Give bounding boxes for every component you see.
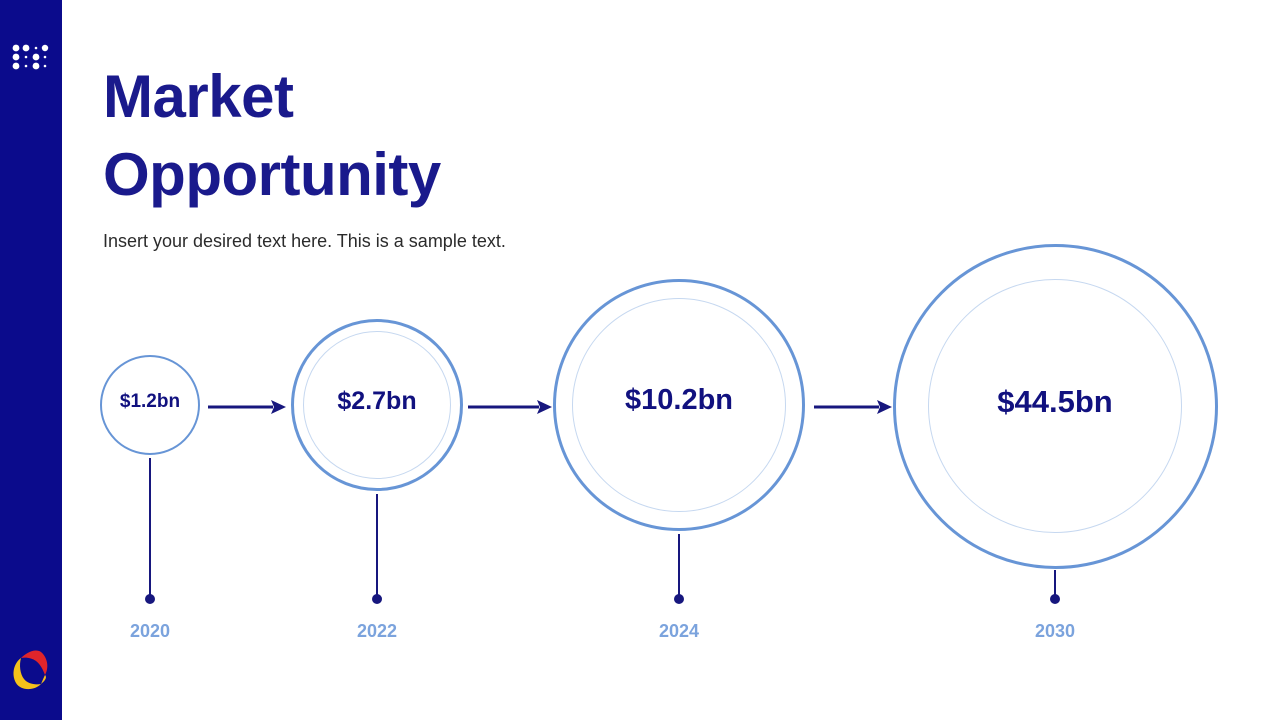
timeline-dot-2030 [1050,594,1060,604]
year-label-2030: 2030 [995,621,1115,642]
arrow-2020-to-2022-icon [208,398,286,416]
arrow-2024-to-2030-icon [814,398,892,416]
arrow-2022-to-2024-icon [468,398,552,416]
timeline-stage-2030[interactable]: $44.5bn2030 [0,0,1280,720]
market-growth-timeline: $1.2bn2020$2.7bn2022$10.2bn2024$44.5bn20… [0,0,1280,720]
value-label-2030: $44.5bn [893,384,1218,420]
